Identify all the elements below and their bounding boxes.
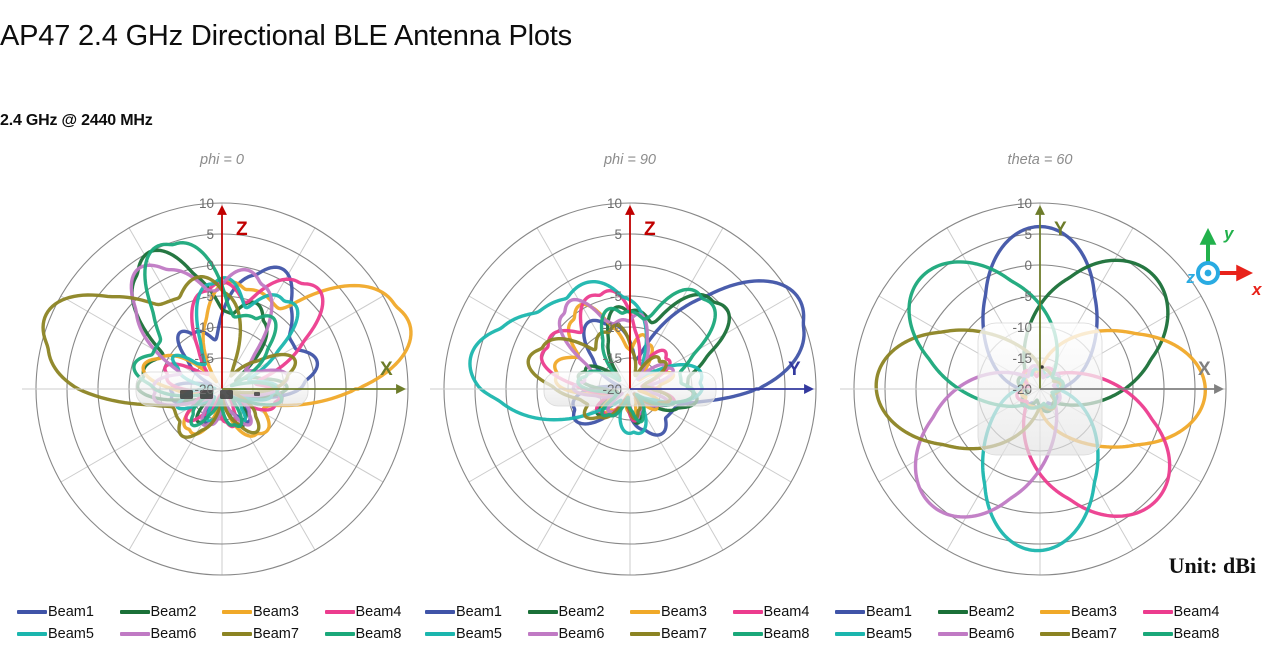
legend-label: Beam4: [1174, 604, 1220, 620]
legend-label: Beam7: [661, 626, 707, 642]
legend-swatch-beam4: [325, 610, 355, 614]
legend-swatch-beam6: [120, 632, 150, 636]
legend-label: Beam2: [559, 604, 605, 620]
radial-tick-label: 5: [206, 227, 214, 242]
axis-label-vertical: Z: [236, 219, 248, 240]
legend-swatch-beam5: [425, 632, 455, 636]
unit-note: Unit: dBi: [1169, 553, 1256, 579]
legend-label: Beam6: [969, 626, 1015, 642]
polar-plot-panel-phi-0: phi = 0 1050-5-10-15-20ZX Beam1Beam2Beam…: [17, 152, 427, 652]
legend-label: Beam3: [253, 604, 299, 620]
legend-item-beam3[interactable]: Beam3: [1040, 604, 1143, 620]
legend-swatch-beam3: [222, 610, 252, 614]
radial-tick-label: -15: [602, 351, 622, 366]
radial-tick-label: 0: [614, 258, 622, 273]
radial-tick-label: -5: [1020, 289, 1032, 304]
legend-label: Beam6: [559, 626, 605, 642]
legend-item-beam8[interactable]: Beam8: [325, 626, 428, 642]
legend-theta-60: Beam1Beam2Beam3Beam4Beam5Beam6Beam7Beam8: [835, 604, 1245, 642]
beam-traces: [43, 243, 411, 437]
radial-tick-label: 5: [1024, 227, 1032, 242]
axis-label-horizontal: Y: [788, 359, 801, 380]
radial-tick-label: -10: [1012, 320, 1032, 335]
legend-swatch-beam6: [528, 632, 558, 636]
axis-label-vertical: Z: [644, 219, 656, 240]
legend-item-beam5[interactable]: Beam5: [17, 626, 120, 642]
radial-tick-label: 5: [614, 227, 622, 242]
radial-tick-label: -5: [202, 289, 214, 304]
legend-swatch-beam2: [120, 610, 150, 614]
polar-chart-phi-0: 1050-5-10-15-20ZX: [17, 174, 427, 594]
page-title: AP47 2.4 GHz Directional BLE Antenna Plo…: [0, 20, 572, 53]
legend-swatch-beam1: [425, 610, 455, 614]
legend-item-beam4[interactable]: Beam4: [1143, 604, 1246, 620]
legend-swatch-beam3: [1040, 610, 1070, 614]
legend-item-beam1[interactable]: Beam1: [17, 604, 120, 620]
legend-label: Beam5: [48, 626, 94, 642]
beam-traces: [470, 281, 804, 435]
legend-swatch-beam1: [17, 610, 47, 614]
legend-item-beam2[interactable]: Beam2: [528, 604, 631, 620]
legend-item-beam7[interactable]: Beam7: [630, 626, 733, 642]
legend-item-beam1[interactable]: Beam1: [835, 604, 938, 620]
legend-item-beam2[interactable]: Beam2: [938, 604, 1041, 620]
legend-item-beam5[interactable]: Beam5: [425, 626, 528, 642]
triad-label-x: x: [1251, 280, 1263, 299]
legend-item-beam8[interactable]: Beam8: [733, 626, 836, 642]
legend-label: Beam3: [1071, 604, 1117, 620]
legend-swatch-beam7: [1040, 632, 1070, 636]
radial-tick-label: -15: [194, 351, 214, 366]
legend-label: Beam5: [456, 626, 502, 642]
legend-swatch-beam4: [1143, 610, 1173, 614]
triad-label-z: z: [1186, 268, 1196, 287]
legend-item-beam1[interactable]: Beam1: [425, 604, 528, 620]
polar-plot-panel-phi-90: phi = 90 1050-5-10-15-20ZY Beam1Beam2Bea…: [425, 152, 835, 652]
device-port: [180, 390, 193, 399]
triad-z-dot: [1205, 270, 1212, 277]
axis-label-horizontal: X: [380, 359, 393, 380]
radial-tick-label: -15: [1012, 351, 1032, 366]
legend-label: Beam5: [866, 626, 912, 642]
legend-swatch-beam6: [938, 632, 968, 636]
legend-swatch-beam4: [733, 610, 763, 614]
legend-swatch-beam5: [835, 632, 865, 636]
legend-label: Beam4: [764, 604, 810, 620]
radial-tick-label: 0: [1024, 258, 1032, 273]
legend-label: Beam4: [356, 604, 402, 620]
legend-swatch-beam1: [835, 610, 865, 614]
legend-item-beam6[interactable]: Beam6: [120, 626, 223, 642]
axis-triad-icon: xyz: [1178, 218, 1278, 318]
triad-label-y: y: [1223, 224, 1235, 243]
legend-label: Beam2: [969, 604, 1015, 620]
plot-caption: theta = 60: [835, 152, 1245, 168]
legend-item-beam3[interactable]: Beam3: [630, 604, 733, 620]
legend-label: Beam8: [356, 626, 402, 642]
radial-tick-label: -10: [602, 320, 622, 335]
legend-label: Beam7: [1071, 626, 1117, 642]
legend-swatch-beam7: [222, 632, 252, 636]
radial-tick-label: 10: [1017, 196, 1032, 211]
legend-swatch-beam8: [325, 632, 355, 636]
legend-label: Beam1: [866, 604, 912, 620]
plot-caption: phi = 90: [425, 152, 835, 168]
legend-item-beam6[interactable]: Beam6: [938, 626, 1041, 642]
device-port: [220, 390, 233, 399]
radial-tick-label: -5: [610, 289, 622, 304]
legend-label: Beam8: [764, 626, 810, 642]
legend-label: Beam3: [661, 604, 707, 620]
legend-item-beam4[interactable]: Beam4: [325, 604, 428, 620]
legend-swatch-beam5: [17, 632, 47, 636]
legend-phi-0: Beam1Beam2Beam3Beam4Beam5Beam6Beam7Beam8: [17, 604, 427, 642]
legend-item-beam6[interactable]: Beam6: [528, 626, 631, 642]
legend-swatch-beam7: [630, 632, 660, 636]
axis-label-vertical: Y: [1054, 219, 1067, 240]
legend-item-beam2[interactable]: Beam2: [120, 604, 223, 620]
legend-phi-90: Beam1Beam2Beam3Beam4Beam5Beam6Beam7Beam8: [425, 604, 835, 642]
radial-tick-label: 10: [199, 196, 214, 211]
legend-label: Beam8: [1174, 626, 1220, 642]
polar-chart-phi-90: 1050-5-10-15-20ZY: [425, 174, 835, 594]
legend-swatch-beam2: [938, 610, 968, 614]
frequency-subtitle: 2.4 GHz @ 2440 MHz: [0, 112, 153, 130]
legend-swatch-beam8: [733, 632, 763, 636]
legend-label: Beam1: [48, 604, 94, 620]
legend-swatch-beam8: [1143, 632, 1173, 636]
radial-tick-label: -10: [194, 320, 214, 335]
legend-item-beam8[interactable]: Beam8: [1143, 626, 1246, 642]
legend-item-beam7[interactable]: Beam7: [1040, 626, 1143, 642]
legend-label: Beam7: [253, 626, 299, 642]
legend-label: Beam6: [151, 626, 197, 642]
legend-item-beam5[interactable]: Beam5: [835, 626, 938, 642]
legend-label: Beam1: [456, 604, 502, 620]
radial-tick-label: 0: [206, 258, 214, 273]
legend-item-beam3[interactable]: Beam3: [222, 604, 325, 620]
axis-label-horizontal: X: [1198, 359, 1211, 380]
legend-item-beam7[interactable]: Beam7: [222, 626, 325, 642]
legend-swatch-beam3: [630, 610, 660, 614]
radial-tick-label: 10: [607, 196, 622, 211]
legend-swatch-beam2: [528, 610, 558, 614]
legend-label: Beam2: [151, 604, 197, 620]
device-led: [254, 392, 260, 396]
plot-caption: phi = 0: [17, 152, 427, 168]
legend-item-beam4[interactable]: Beam4: [733, 604, 836, 620]
